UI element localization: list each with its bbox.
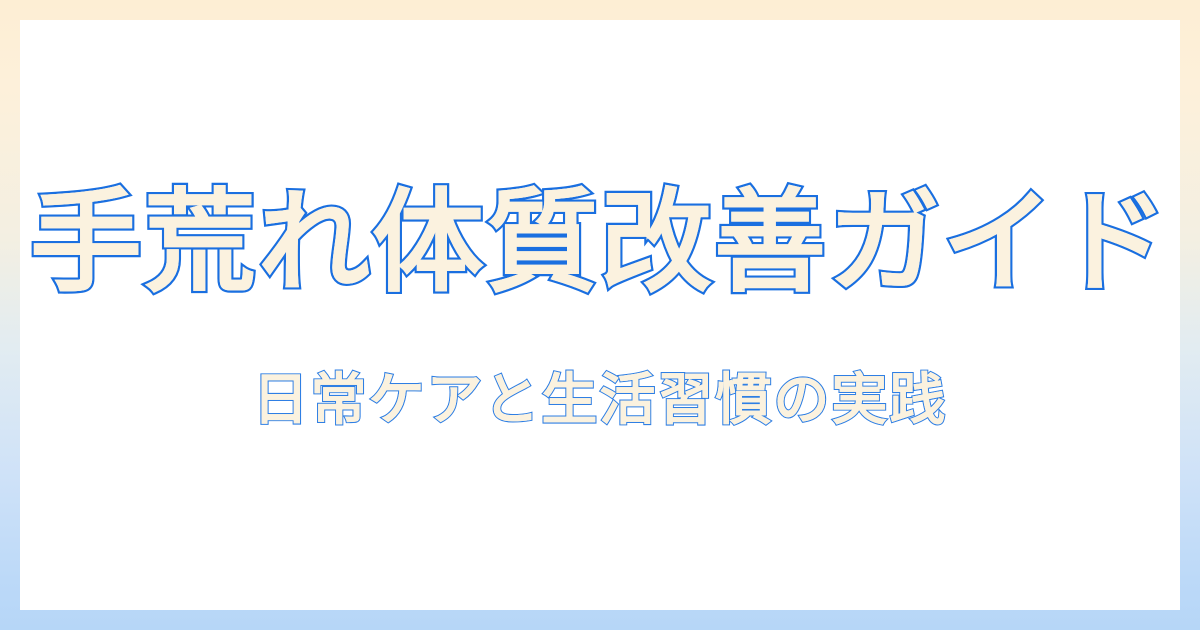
banner-background: 手荒れ体質改善ガイド 手荒れ体質改善ガイド 日常ケアと生活習慣の実践 日常ケアと…: [0, 0, 1200, 630]
banner-title-wrapper: 手荒れ体質改善ガイド 手荒れ体質改善ガイド: [30, 179, 1170, 309]
banner-title: 手荒れ体質改善ガイド: [30, 178, 1170, 308]
banner-card: 手荒れ体質改善ガイド 手荒れ体質改善ガイド 日常ケアと生活習慣の実践 日常ケアと…: [20, 20, 1180, 610]
banner-subtitle-wrapper: 日常ケアと生活習慣の実践 日常ケアと生活習慣の実践: [253, 367, 948, 434]
banner-subtitle: 日常ケアと生活習慣の実践: [253, 368, 948, 433]
banner-text-stack: 手荒れ体質改善ガイド 手荒れ体質改善ガイド 日常ケアと生活習慣の実践 日常ケアと…: [20, 179, 1180, 434]
